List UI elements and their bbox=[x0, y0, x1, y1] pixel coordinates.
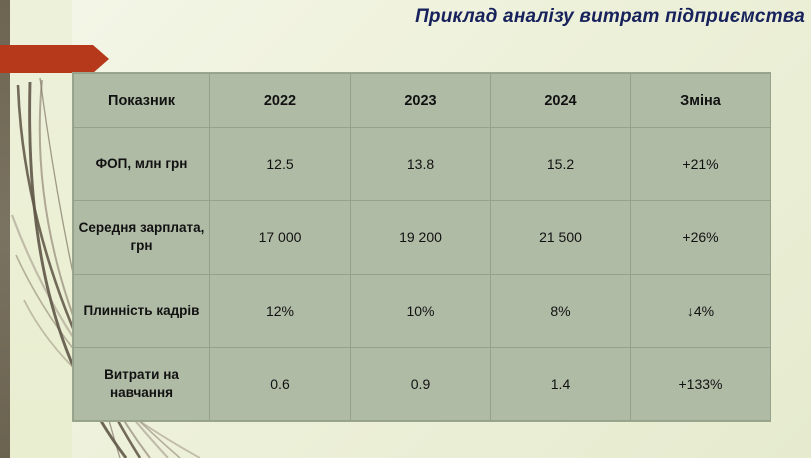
row-label: Витрати на навчання bbox=[74, 347, 210, 420]
table-row: Плинність кадрів 12% 10% 8% ↓4% bbox=[74, 274, 771, 347]
row-label: ФОП, млн грн bbox=[74, 128, 210, 201]
column-header-2024: 2024 bbox=[491, 74, 631, 128]
cell-2024: 1.4 bbox=[491, 347, 631, 420]
cell-2024: 15.2 bbox=[491, 128, 631, 201]
cell-2024: 8% bbox=[491, 274, 631, 347]
cost-analysis-table: Показник 2022 2023 2024 Зміна ФОП, млн г… bbox=[73, 73, 771, 421]
cell-2022: 12.5 bbox=[210, 128, 351, 201]
cell-2023: 19 200 bbox=[351, 201, 491, 274]
column-header-2022: 2022 bbox=[210, 74, 351, 128]
table-header-row: Показник 2022 2023 2024 Зміна bbox=[74, 74, 771, 128]
cell-change: +21% bbox=[631, 128, 771, 201]
row-label: Плинність кадрів bbox=[74, 274, 210, 347]
column-header-2023: 2023 bbox=[351, 74, 491, 128]
cell-2022: 12% bbox=[210, 274, 351, 347]
table-row: Середня зарплата, грн 17 000 19 200 21 5… bbox=[74, 201, 771, 274]
cell-2023: 13.8 bbox=[351, 128, 491, 201]
cell-change: ↓4% bbox=[631, 274, 771, 347]
cell-2023: 10% bbox=[351, 274, 491, 347]
red-arrow-banner bbox=[0, 45, 109, 73]
cell-2024: 21 500 bbox=[491, 201, 631, 274]
cell-change: +26% bbox=[631, 201, 771, 274]
table-row: ФОП, млн грн 12.5 13.8 15.2 +21% bbox=[74, 128, 771, 201]
cost-analysis-table-container: Показник 2022 2023 2024 Зміна ФОП, млн г… bbox=[73, 73, 770, 421]
cell-2022: 0.6 bbox=[210, 347, 351, 420]
column-header-indicator: Показник bbox=[74, 74, 210, 128]
cell-2022: 17 000 bbox=[210, 201, 351, 274]
page-title: Приклад аналізу витрат підприємства bbox=[415, 6, 805, 28]
cell-change: +133% bbox=[631, 347, 771, 420]
table-row: Витрати на навчання 0.6 0.9 1.4 +133% bbox=[74, 347, 771, 420]
cell-2023: 0.9 bbox=[351, 347, 491, 420]
row-label: Середня зарплата, грн bbox=[74, 201, 210, 274]
column-header-change: Зміна bbox=[631, 74, 771, 128]
slide-canvas: Приклад аналізу витрат підприємства Пока… bbox=[0, 0, 811, 458]
